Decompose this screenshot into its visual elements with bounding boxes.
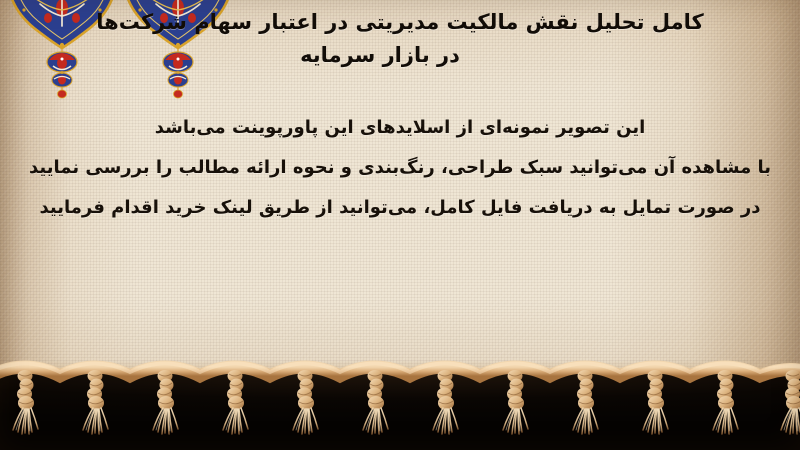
slide-title-line-1: کامل تحلیل نقش مالکیت مدیریتی در اعتبار … bbox=[14, 6, 786, 39]
slide-body: این تصویر نمونه‌ای از اسلایدهای این پاور… bbox=[14, 108, 786, 228]
text-layer: کامل تحلیل نقش مالکیت مدیریتی در اعتبار … bbox=[0, 0, 800, 388]
slide-body-line-2: با مشاهده آن می‌توانید سبک طراحی، رنگ‌بن… bbox=[14, 148, 786, 188]
bottom-black-band bbox=[0, 374, 800, 450]
slide-title: کامل تحلیل نقش مالکیت مدیریتی در اعتبار … bbox=[14, 6, 786, 72]
slide-body-line-3: در صورت تمایل به دریافت فایل کامل، می‌تو… bbox=[14, 188, 786, 228]
presentation-slide: کامل تحلیل نقش مالکیت مدیریتی در اعتبار … bbox=[0, 0, 800, 450]
slide-body-line-1: این تصویر نمونه‌ای از اسلایدهای این پاور… bbox=[14, 108, 786, 148]
slide-title-line-2: در بازار سرمایه bbox=[14, 39, 786, 72]
